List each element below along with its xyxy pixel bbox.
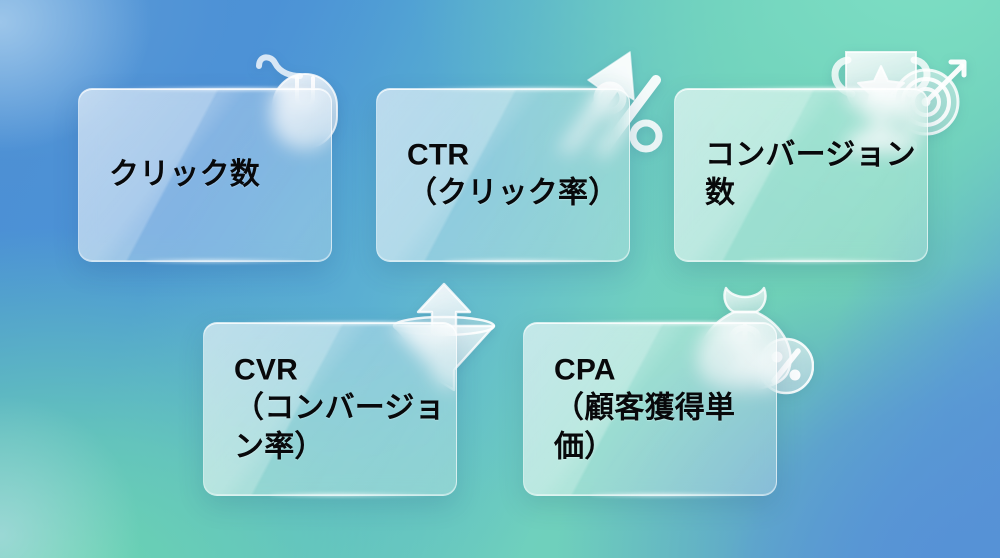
metric-card-conversions[interactable]: コンバージョン数 <box>674 88 928 262</box>
background-bottom-left-glow <box>0 0 1000 558</box>
metric-card-cpa[interactable]: CPA （顧客獲得単価） <box>523 322 777 496</box>
metric-card-ctr[interactable]: CTR （クリック率） <box>376 88 630 262</box>
metric-card-cvr[interactable]: CVR （コンバージョン率） <box>203 322 457 496</box>
metric-card-label: コンバージョン数 <box>705 137 927 214</box>
background-top-left-blue <box>0 0 1000 558</box>
metric-card-label: CTR （クリック率） <box>407 137 618 214</box>
metric-card-label: CVR （コンバージョン率） <box>234 351 456 466</box>
background-top-left-glow <box>0 0 1000 558</box>
metric-card-label: クリック数 <box>109 156 260 194</box>
background-bottom-right-blue <box>0 0 1000 558</box>
metric-card-label: CPA （顧客獲得単価） <box>554 351 776 466</box>
background-base-gradient <box>0 0 1000 558</box>
metric-card-clicks[interactable]: クリック数 <box>78 88 332 262</box>
slide-canvas: クリック数 CTR （クリック率） コンバージョン数 CVR （コンバージョン率… <box>0 0 1000 558</box>
background-bottom-left-green <box>0 0 1000 558</box>
background-center-glow <box>0 0 1000 558</box>
background-top-right-mint <box>0 0 1000 558</box>
